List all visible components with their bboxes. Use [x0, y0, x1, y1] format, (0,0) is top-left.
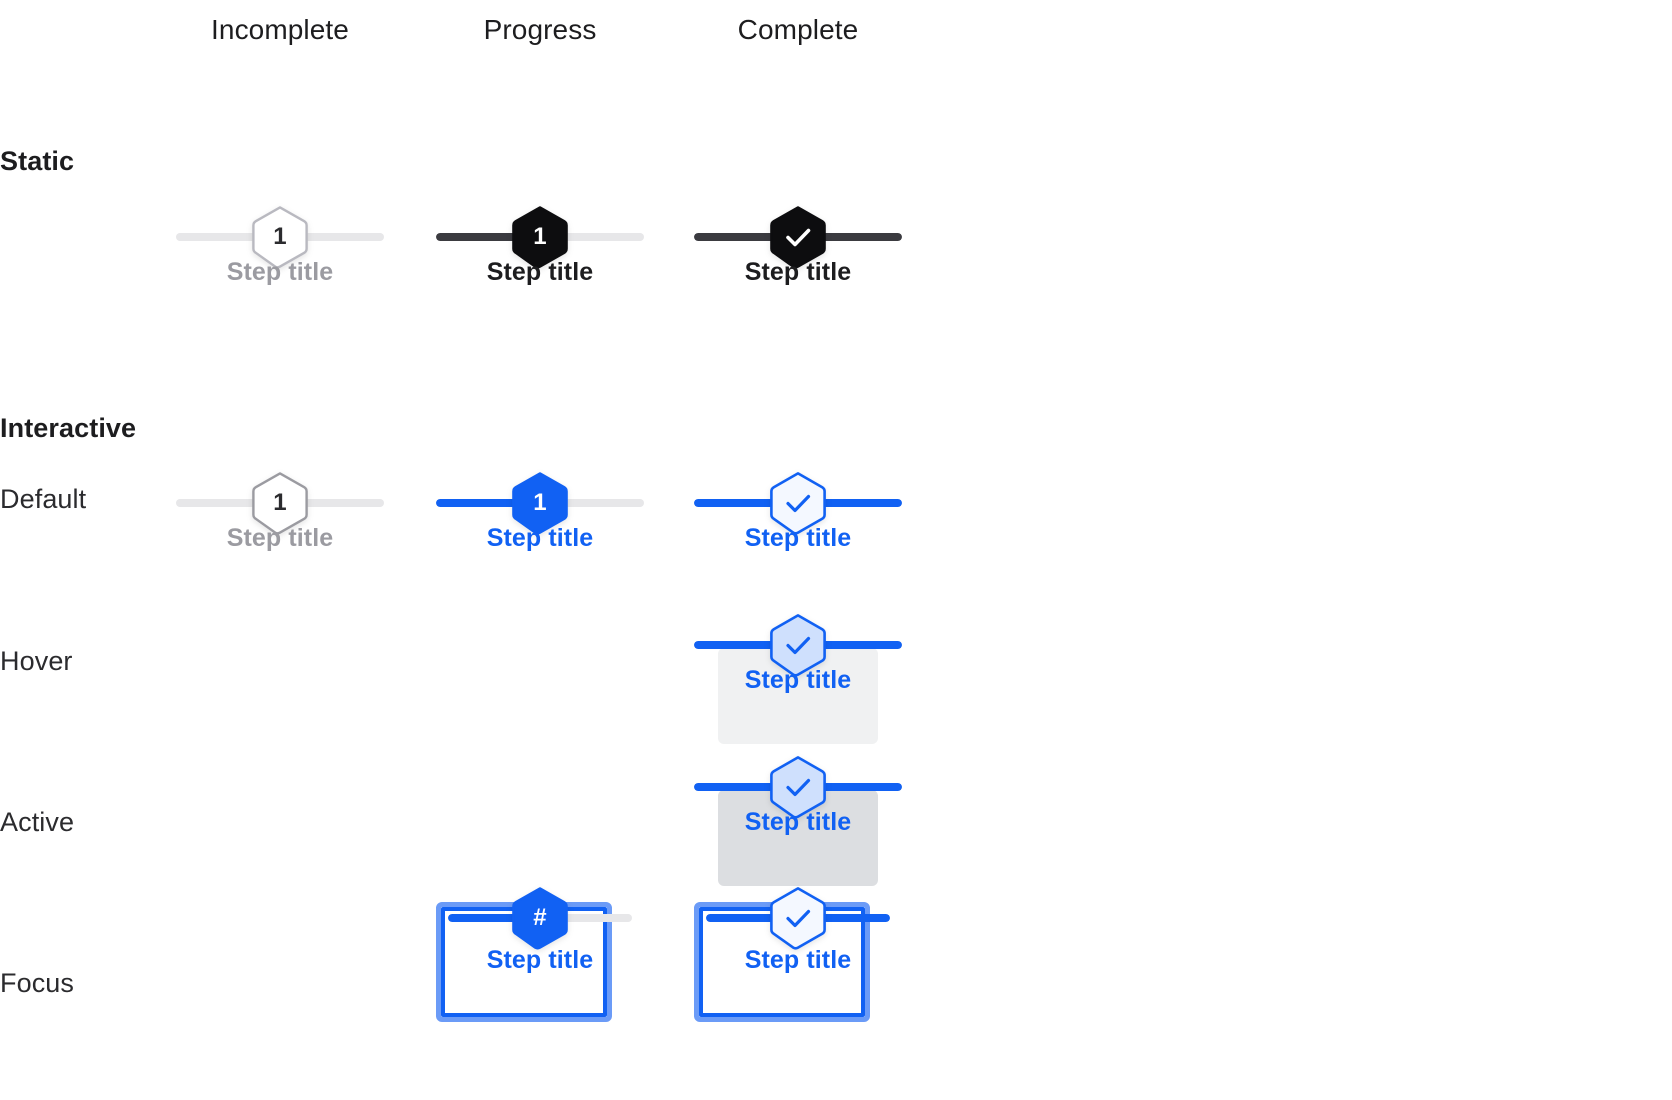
step-title: Step title: [686, 256, 910, 288]
step-title[interactable]: Step title: [686, 522, 910, 554]
step-default-complete[interactable]: Step title: [686, 458, 910, 578]
row-label-active: Active: [0, 805, 74, 839]
section-label-interactive: Interactive: [0, 411, 136, 445]
step-focus-progress[interactable]: # Step title: [428, 884, 652, 1004]
step-active-complete[interactable]: Step title: [686, 742, 910, 862]
step-title[interactable]: Step title: [428, 522, 652, 554]
step-title: Step title: [428, 256, 652, 288]
step-default-progress[interactable]: 1 Step title: [428, 458, 652, 578]
step-title: Step title: [168, 256, 392, 288]
step-title[interactable]: Step title: [168, 522, 392, 554]
column-header-complete: Complete: [708, 10, 888, 50]
row-label-default: Default: [0, 482, 86, 516]
column-header-progress: Progress: [450, 10, 630, 50]
step-title[interactable]: Step title: [686, 664, 910, 696]
step-hover-complete[interactable]: Step title: [686, 600, 910, 720]
step-title[interactable]: Step title: [686, 806, 910, 838]
step-title[interactable]: Step title: [686, 944, 910, 976]
stepper-states-sheet: Incomplete Progress Complete Static Inte…: [0, 0, 1672, 1100]
row-label-focus: Focus: [0, 966, 74, 1000]
section-label-static: Static: [0, 144, 74, 178]
hexagon-marker[interactable]: #: [510, 885, 570, 951]
step-static-incomplete: 1 Step title: [168, 192, 392, 312]
step-title[interactable]: Step title: [428, 944, 652, 976]
hexagon-marker[interactable]: [768, 885, 828, 951]
step-static-progress: 1 Step title: [428, 192, 652, 312]
step-static-complete: Step title: [686, 192, 910, 312]
step-default-incomplete[interactable]: 1 Step title: [168, 458, 392, 578]
column-header-incomplete: Incomplete: [190, 10, 370, 50]
step-focus-complete[interactable]: Step title: [686, 884, 910, 1004]
row-label-hover: Hover: [0, 644, 73, 678]
